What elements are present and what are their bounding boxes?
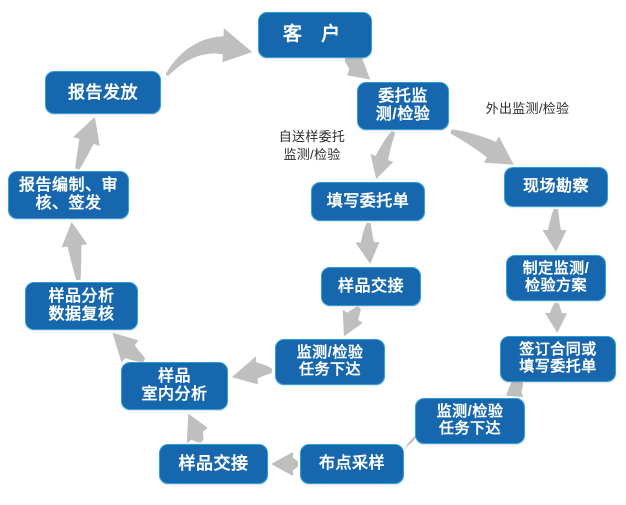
node-task-issue-right[interactable]: 监测/检验 任务下达 (415, 398, 525, 444)
label-field-test: 外出监测/检验 (470, 100, 585, 118)
node-fill-form[interactable]: 填写委托单 (311, 182, 425, 221)
arrow-sample-handover-to-task (343, 306, 363, 336)
node-sample-handover-1[interactable]: 样品交接 (321, 267, 421, 306)
arrow-data-review-to-report-compile (62, 222, 88, 280)
node-lab-analysis[interactable]: 样品 室内分析 (121, 362, 228, 410)
node-sign-contract[interactable]: 签订合同或 填写委托单 (500, 336, 616, 382)
arrow-make-plan-to-sign-contract (545, 303, 567, 333)
node-report-compile[interactable]: 报告编制、审 核、签发 (8, 171, 129, 219)
arrow-fill-form-to-sample-handover (355, 223, 379, 264)
arrow-lab-to-data-review (112, 333, 145, 363)
arrow-task-left-to-lab (232, 357, 272, 385)
node-entrust[interactable]: 委托监 测/检验 (357, 82, 449, 130)
node-make-plan[interactable]: 制定监测/ 检验方案 (506, 255, 606, 301)
node-data-review[interactable]: 样品分析 数据复核 (25, 282, 138, 330)
arrow-sample-handover-2-to-lab (187, 414, 208, 444)
node-customer[interactable]: 客 户 (258, 12, 372, 58)
arrow-entrust-to-site-survey (450, 130, 513, 165)
arrow-report-compile-to-report-issue (73, 117, 100, 170)
flowchart-canvas: 客 户委托监 测/检验填写委托单样品交接监测/检验 任务下达现场勘察制定监测/ … (0, 0, 626, 505)
node-sample-handover-2[interactable]: 样品交接 (159, 444, 268, 484)
label-self-delivery: 自送样委托 监测/检验 (262, 128, 362, 163)
arrow-sampling-to-sample-handover-2 (271, 452, 298, 476)
node-sampling[interactable]: 布点采样 (300, 444, 404, 484)
node-task-issue-left[interactable]: 监测/检验 任务下达 (275, 339, 385, 385)
node-site-survey[interactable]: 现场勘察 (504, 167, 608, 207)
arrow-site-survey-to-make-plan (543, 209, 567, 252)
arrow-report-issue-to-customer (166, 28, 253, 76)
node-report-issue[interactable]: 报告发放 (45, 71, 161, 114)
arrow-entrust-to-fill-form (371, 131, 396, 179)
